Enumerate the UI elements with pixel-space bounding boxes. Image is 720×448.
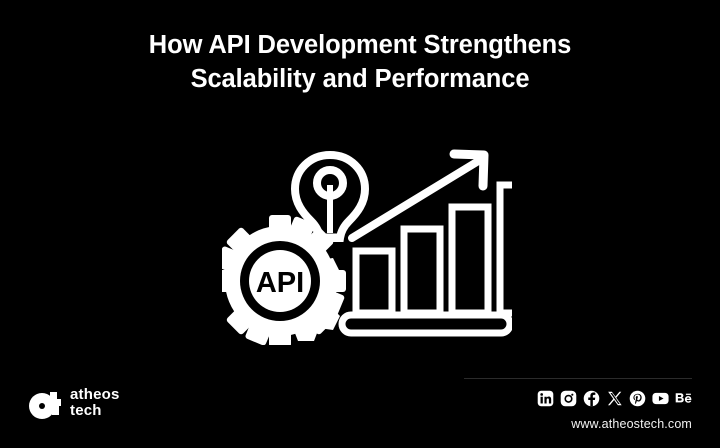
website-url[interactable]: www.atheostech.com bbox=[464, 417, 692, 431]
page-title: How API Development Strengthens Scalabil… bbox=[0, 28, 720, 96]
social-card: How API Development Strengthens Scalabil… bbox=[0, 0, 720, 448]
linkedin-icon[interactable] bbox=[537, 390, 554, 407]
behance-icon[interactable] bbox=[675, 390, 692, 407]
pinterest-icon[interactable] bbox=[629, 390, 646, 407]
logo-word-tech: tech bbox=[70, 403, 120, 419]
title-line-1: How API Development Strengthens bbox=[0, 28, 720, 62]
x-twitter-icon[interactable] bbox=[606, 390, 623, 407]
atheos-circle-mark-icon bbox=[28, 386, 62, 420]
title-line-2: Scalability and Performance bbox=[0, 62, 720, 96]
brand-logo: atheos tech bbox=[28, 386, 120, 420]
youtube-icon[interactable] bbox=[652, 390, 669, 407]
logo-word-atheos: atheos bbox=[70, 387, 120, 403]
gear-api-label: API bbox=[256, 267, 304, 299]
footer-divider bbox=[464, 378, 692, 379]
instagram-icon[interactable] bbox=[560, 390, 577, 407]
logo-wordmark: atheos tech bbox=[70, 387, 120, 419]
api-growth-illustration: API bbox=[222, 133, 512, 345]
facebook-icon[interactable] bbox=[583, 390, 600, 407]
social-links bbox=[464, 388, 692, 408]
footer-right: www.atheostech.com bbox=[464, 378, 692, 431]
bar-chart-icon bbox=[342, 185, 512, 333]
